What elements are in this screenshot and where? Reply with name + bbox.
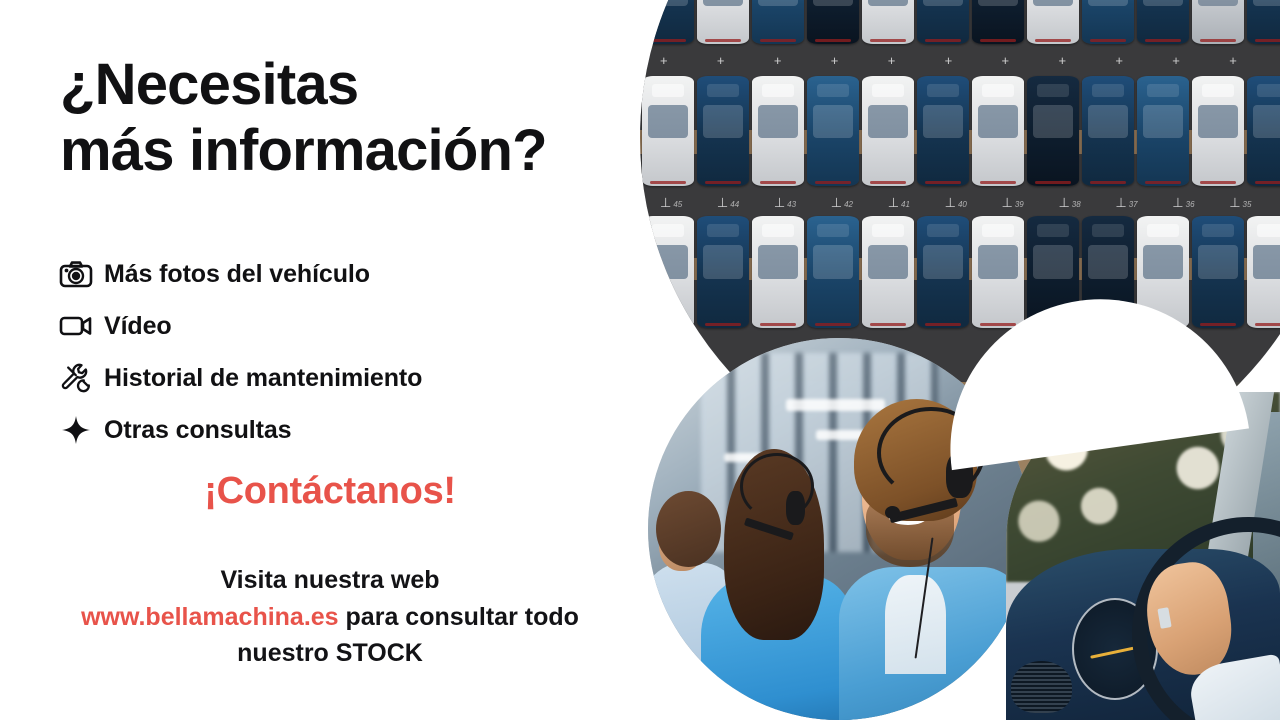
page-title: ¿Necesitas más información? xyxy=(60,52,547,184)
sparkle-icon xyxy=(48,415,104,445)
list-item-label: Otras consultas xyxy=(104,416,291,445)
website-url: www.bellamachina.es xyxy=(81,603,339,631)
feature-list: Más fotos del vehículo Vídeo xyxy=(48,248,422,456)
list-item: Vídeo xyxy=(48,300,422,352)
advertisement-canvas: ++++++ ++++++ xyxy=(0,0,1280,720)
visit-web-line: Visita nuestra web xyxy=(220,566,439,594)
list-item: Otras consultas xyxy=(48,404,422,456)
list-item-label: Historial de mantenimiento xyxy=(104,364,422,393)
list-item: Historial de mantenimiento xyxy=(48,352,422,404)
stock-line: nuestro STOCK xyxy=(237,639,423,667)
text-layer: ¿Necesitas más información? Más fotos de… xyxy=(0,0,1280,720)
consult-stock-line: para consultar todo xyxy=(339,603,579,631)
list-item: Más fotos del vehículo xyxy=(48,248,422,300)
contact-call-to-action: ¡Contáctanos! xyxy=(0,470,660,513)
list-item-label: Más fotos del vehículo xyxy=(104,260,370,289)
camera-icon xyxy=(48,260,104,288)
video-camera-icon xyxy=(48,313,104,339)
website-promo-text: Visita nuestra web www.bellamachina.es p… xyxy=(0,562,660,672)
wrench-screwdriver-icon xyxy=(48,362,104,394)
list-item-label: Vídeo xyxy=(104,312,172,341)
